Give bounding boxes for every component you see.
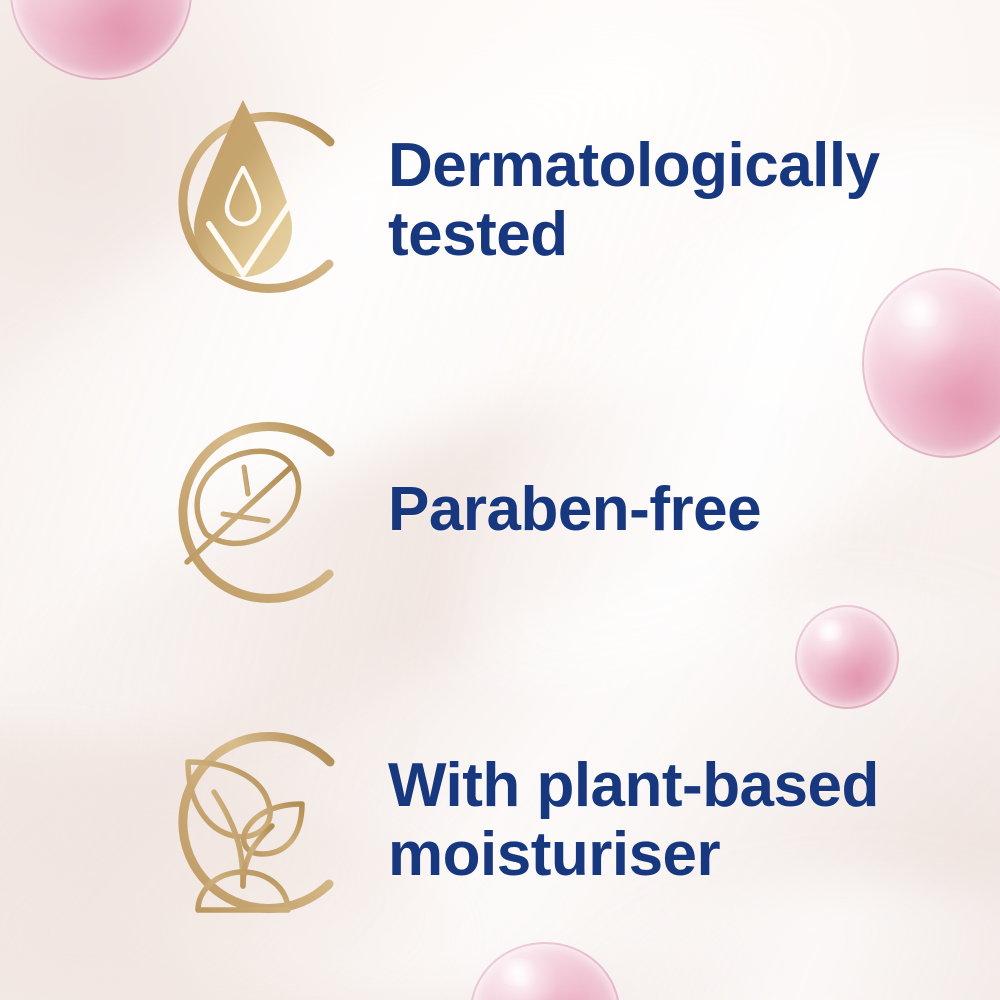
plant-sprout-icon <box>130 700 360 940</box>
feature-label-dermatologically-tested: Dermatologically tested <box>388 131 950 270</box>
leaf-crossed-out-icon <box>130 390 360 630</box>
feature-label-paraben-free: Paraben-free <box>388 475 950 544</box>
feature-label-plant-based-moisturiser: With plant-based moisturiser <box>388 751 950 890</box>
water-drop-check-icon <box>130 80 360 320</box>
feature-item-dermatologically-tested: Dermatologically tested <box>130 80 950 320</box>
promo-canvas: Dermatologically tested <box>0 0 1000 1000</box>
feature-item-plant-based-moisturiser: With plant-based moisturiser <box>130 700 950 940</box>
feature-list: Dermatologically tested <box>0 0 1000 1000</box>
feature-item-paraben-free: Paraben-free <box>130 390 950 630</box>
